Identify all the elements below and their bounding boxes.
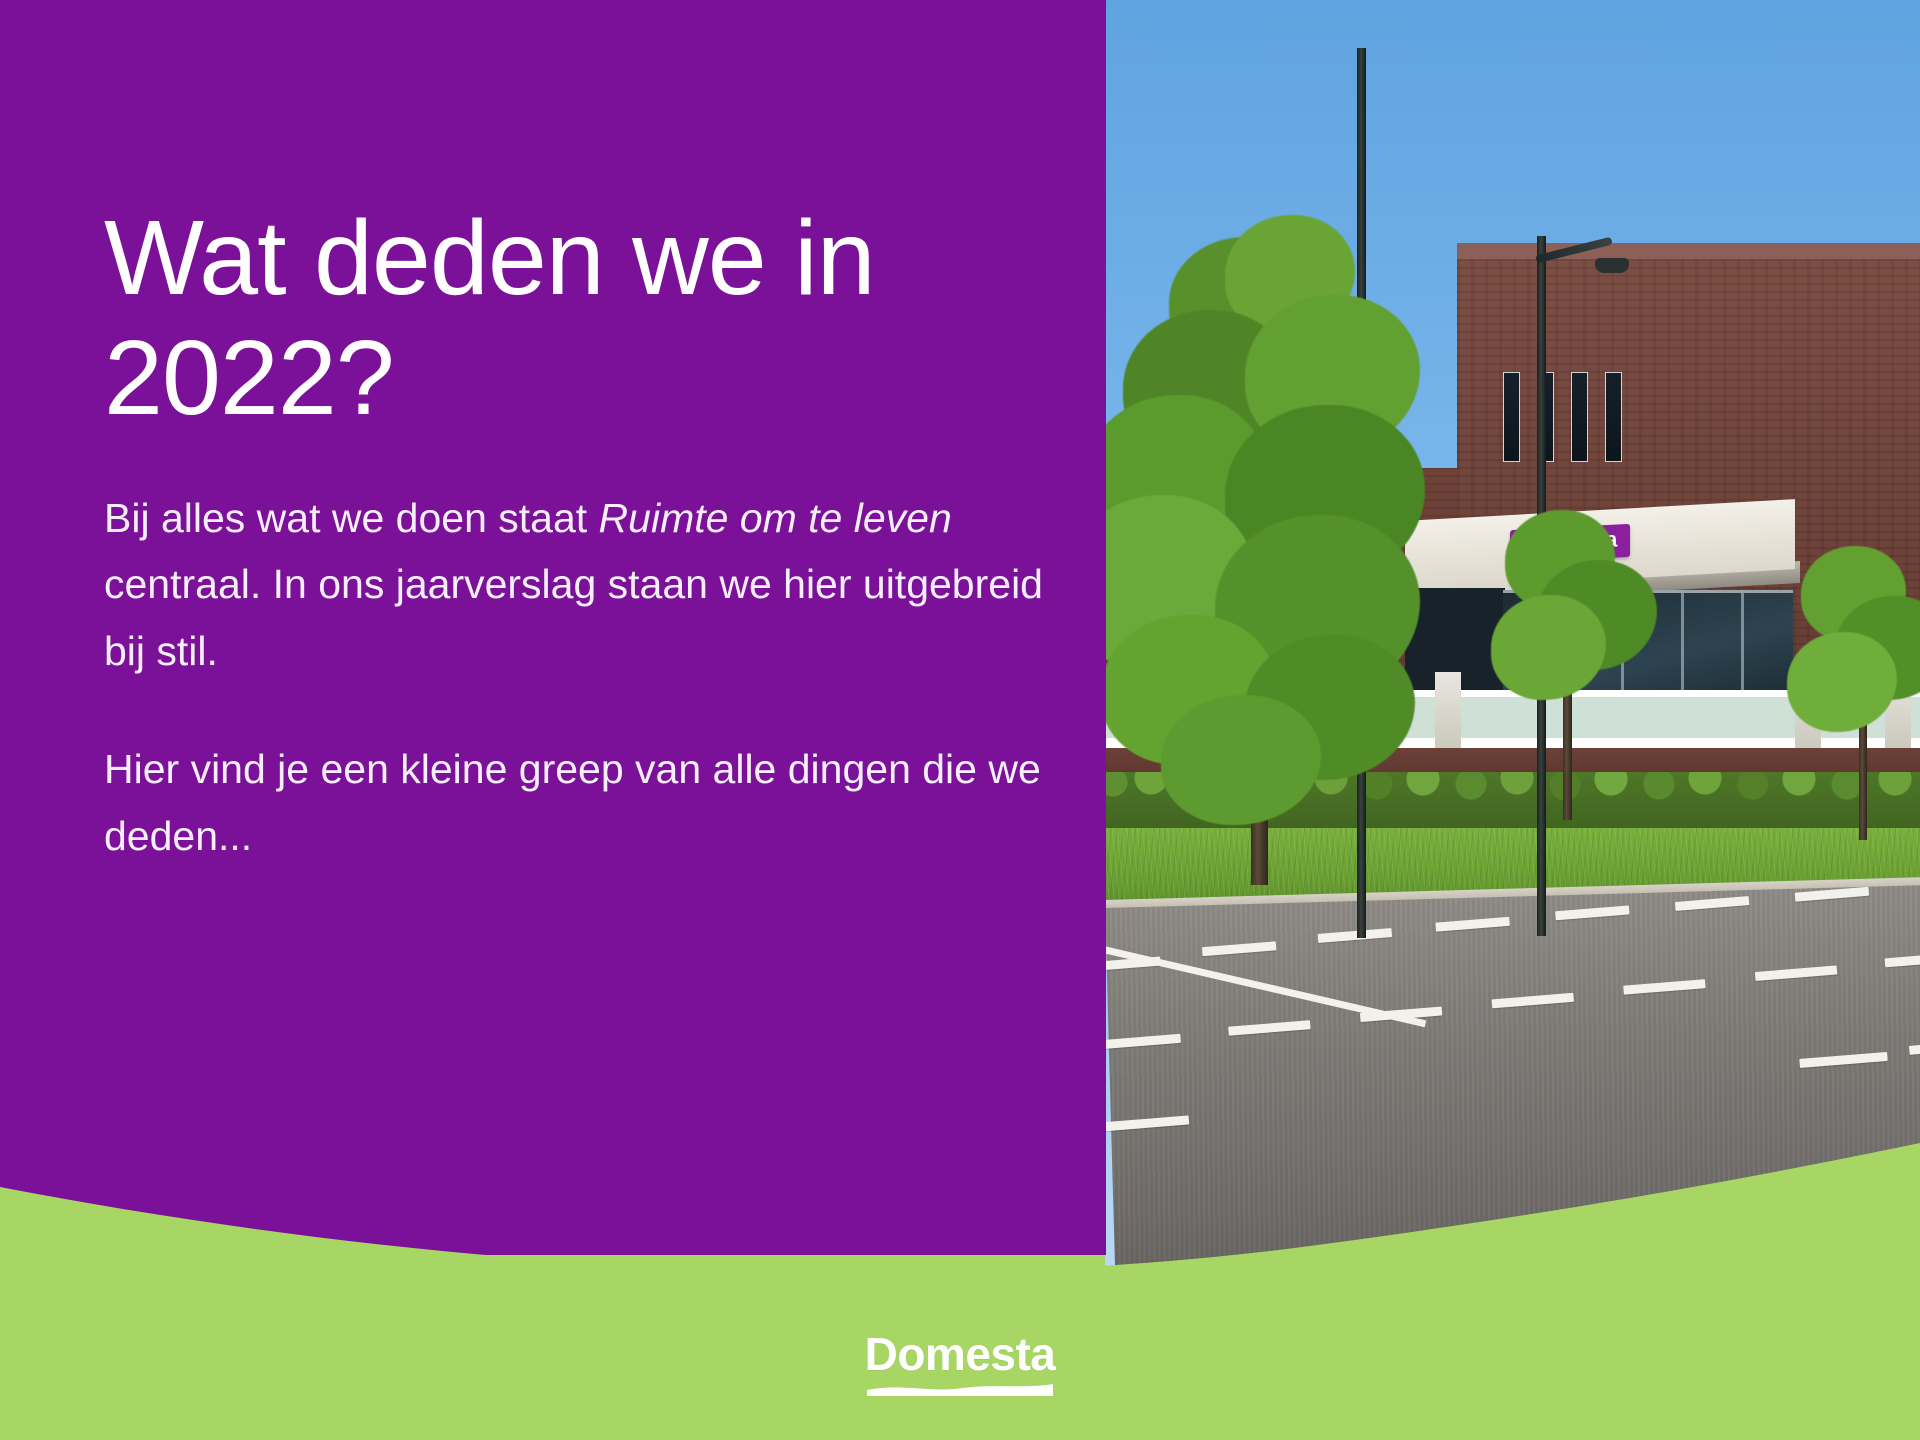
tree-foliage [1105, 215, 1485, 835]
road-marking [1909, 1039, 1920, 1055]
purple-text-panel: Wat deden we in 2022? Bij alles wat we d… [0, 0, 1106, 1255]
paragraph-intro-part1: Bij alles wat we doen staat [104, 495, 599, 541]
slide-root: Domesta [0, 0, 1920, 1440]
road-marking [1318, 928, 1392, 943]
swoosh-icon [867, 1381, 1053, 1396]
tree-foliage [1785, 540, 1920, 840]
tower-window [1503, 372, 1520, 462]
road-marking [1202, 941, 1276, 956]
page-title: Wat deden we in 2022? [104, 199, 1054, 439]
road-marking [1799, 1052, 1887, 1068]
tower-window [1605, 372, 1622, 462]
road-marking [1492, 993, 1574, 1009]
tree-leaf-cluster [1491, 595, 1606, 700]
paragraph-intro-part2: centraal. In ons jaarverslag staan we hi… [104, 561, 1043, 673]
office-photo: Domesta [1105, 0, 1920, 1295]
paragraph-teaser: Hier vind je een kleine greep van alle d… [104, 736, 1064, 869]
tree-leaf-cluster [1787, 632, 1897, 732]
road-marking [1228, 1020, 1310, 1036]
road-marking [1435, 917, 1509, 932]
road-marking [1623, 979, 1705, 995]
road-marking [1105, 1034, 1181, 1050]
body-copy: Bij alles wat we doen staat Ruimte om te… [104, 485, 1064, 869]
tree-foliage [1485, 500, 1665, 820]
paragraph-intro: Bij alles wat we doen staat Ruimte om te… [104, 485, 1064, 684]
road-marking [1555, 905, 1629, 920]
road-marking [1105, 1115, 1189, 1131]
road-marking [1885, 952, 1920, 968]
lamp-head [1595, 258, 1629, 273]
domesta-logo-text: Domesta [835, 1331, 1085, 1377]
domesta-logo: Domesta [835, 1331, 1085, 1396]
tower-window [1571, 372, 1588, 462]
road-marking [1755, 965, 1837, 981]
road-marking [1675, 896, 1749, 911]
paragraph-spacer [104, 684, 1064, 736]
paragraph-intro-emphasis: Ruimte om te leven [599, 495, 952, 541]
building-parapet [1457, 243, 1920, 259]
road-marking [1795, 887, 1869, 902]
tree-leaf-cluster [1161, 695, 1321, 825]
